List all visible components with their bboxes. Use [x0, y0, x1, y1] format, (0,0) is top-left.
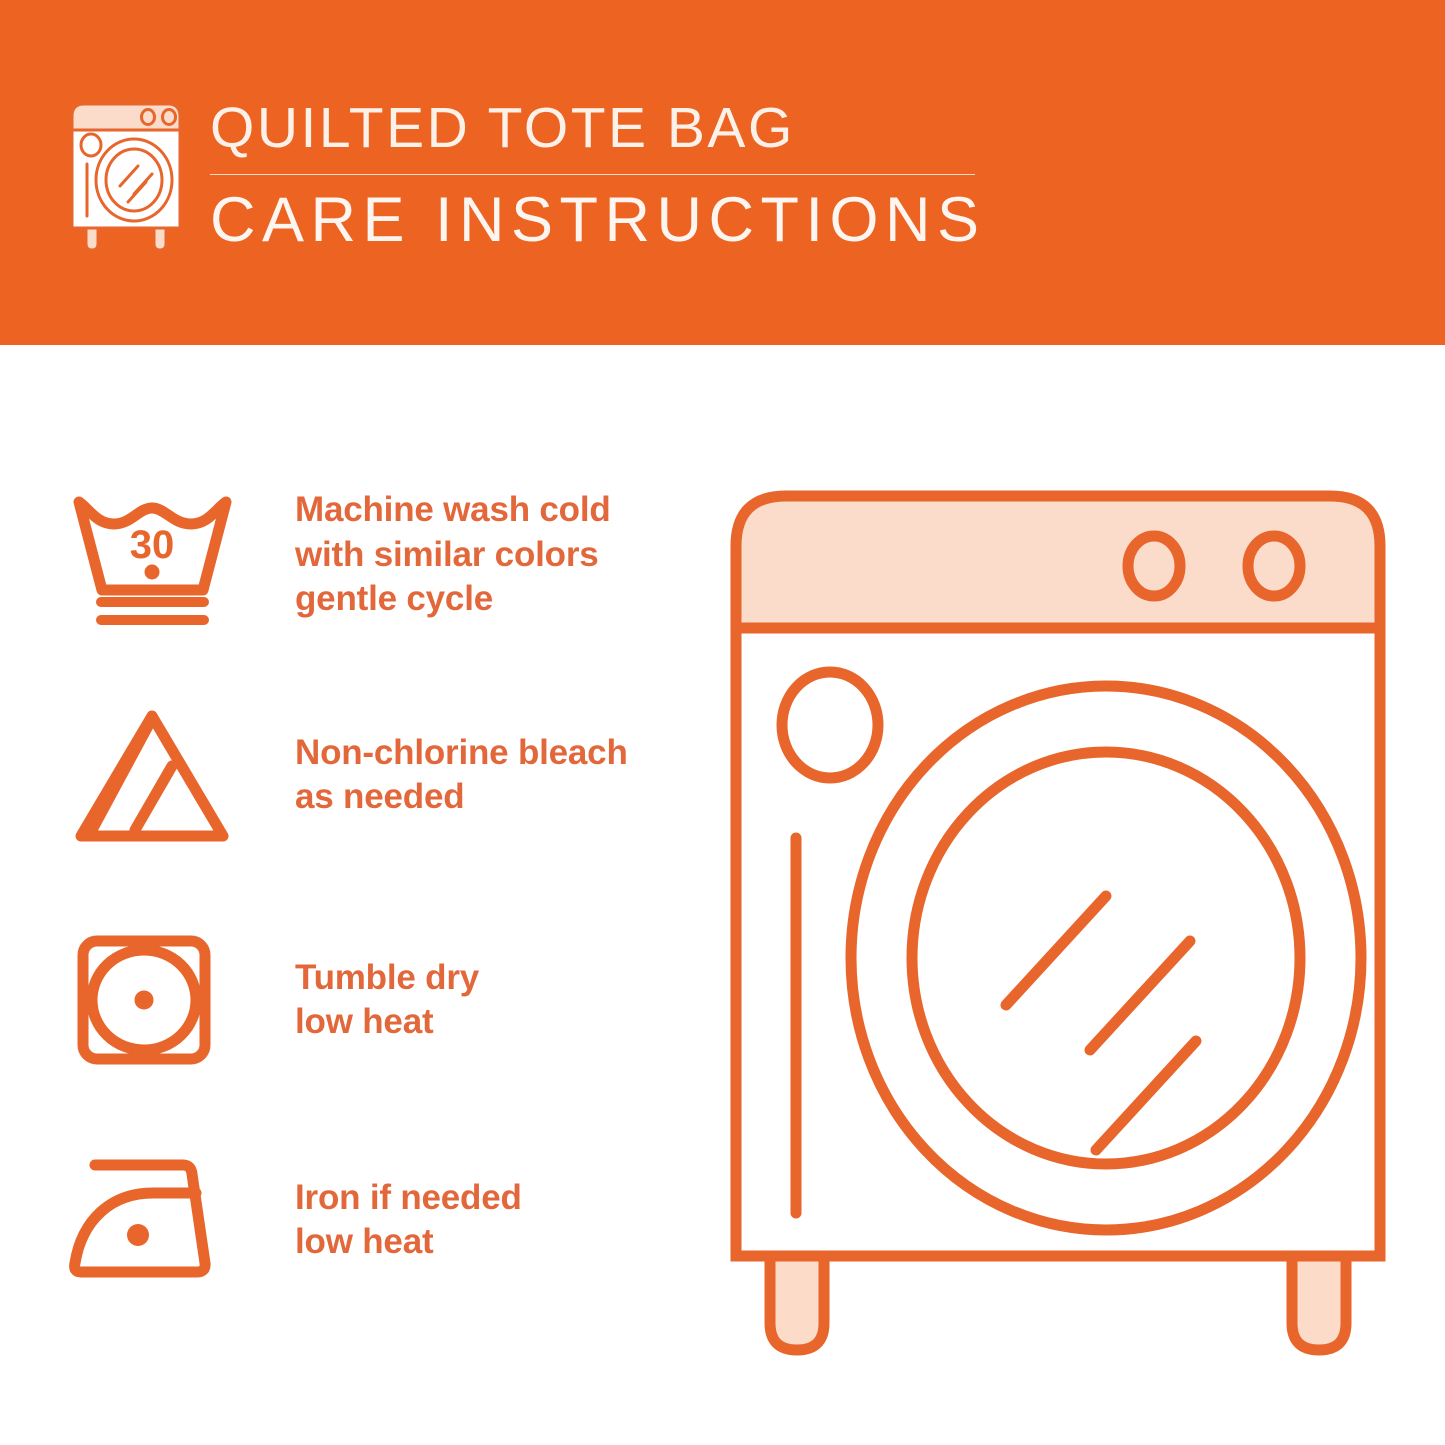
washer-door-ring-inner [912, 752, 1300, 1164]
care-row-iron: Iron if needed low heat [0, 1145, 700, 1295]
care-text-wash-line-1: Machine wash cold [295, 488, 700, 532]
care-row-wash: 30 Machine wash cold with similar colors… [0, 480, 700, 630]
care-row-bleach: Non-chlorine bleach as needed [0, 700, 700, 850]
washer-knob-left [1128, 536, 1180, 596]
care-text-tumble-dry: Tumble dry low heat [295, 956, 700, 1045]
care-text-iron: Iron if needed low heat [295, 1176, 700, 1265]
washing-machine-illustration [718, 478, 1398, 1378]
care-instruction-list: 30 Machine wash cold with similar colors… [0, 345, 700, 1445]
washing-machine-icon [62, 98, 190, 258]
washer-leg-right [1292, 1256, 1346, 1350]
non-chlorine-bleach-triangle-icon [65, 700, 240, 850]
care-instructions-infographic: QUILTED TOTE BAG CARE INSTRUCTIONS 30 [0, 0, 1445, 1445]
page-subtitle: CARE INSTRUCTIONS [210, 189, 990, 252]
machine-wash-30-gentle-icon: 30 [65, 480, 240, 630]
washer-indicator-light [782, 672, 878, 778]
washer-leg-left [770, 1256, 824, 1350]
care-text-wash: Machine wash cold with similar colors ge… [295, 488, 700, 621]
care-text-wash-line-3: gentle cycle [295, 577, 700, 621]
header-banner: QUILTED TOTE BAG CARE INSTRUCTIONS [0, 0, 1445, 345]
tumble-dry-low-heat-icon [65, 925, 240, 1075]
care-text-dry-line-1: Tumble dry [295, 956, 700, 1000]
washer-knob-right [1248, 536, 1300, 596]
wash-temperature-label: 30 [130, 523, 175, 567]
header-divider [210, 174, 975, 175]
care-text-dry-line-2: low heat [295, 1000, 700, 1044]
care-row-tumble-dry: Tumble dry low heat [0, 925, 700, 1075]
care-text-bleach-line-1: Non-chlorine bleach [295, 731, 700, 775]
care-text-wash-line-2: with similar colors [295, 533, 700, 577]
care-text-iron-line-1: Iron if needed [295, 1176, 700, 1220]
iron-low-heat-icon [65, 1145, 240, 1295]
header-text-block: QUILTED TOTE BAG CARE INSTRUCTIONS [210, 100, 990, 252]
care-text-bleach-line-2: as needed [295, 775, 700, 819]
care-text-iron-line-2: low heat [295, 1220, 700, 1264]
page-title: QUILTED TOTE BAG [210, 100, 990, 157]
care-text-bleach: Non-chlorine bleach as needed [295, 731, 700, 820]
